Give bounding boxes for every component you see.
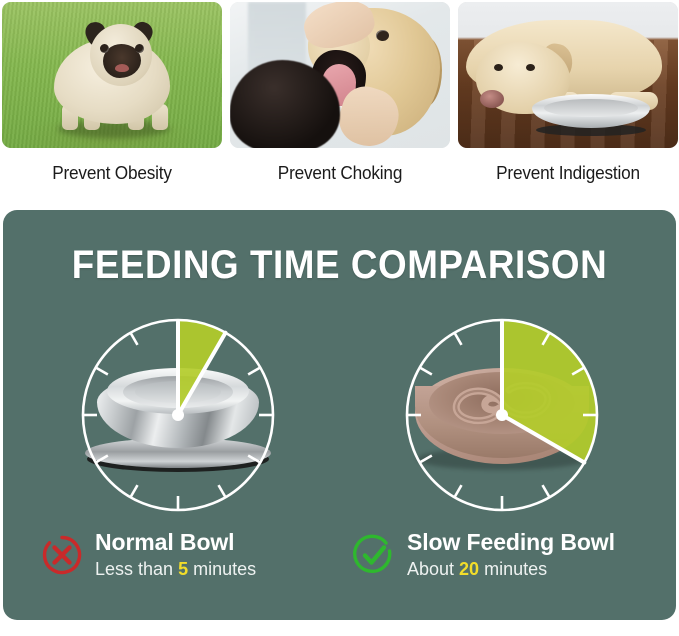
comparison-minutes-value: 20	[459, 559, 479, 579]
comparison-sub-prefix: About	[407, 559, 459, 579]
overweight-pug-on-grass-photo	[2, 2, 222, 148]
dial-center-dot	[496, 409, 508, 421]
comparison-subtitle: About 20 minutes	[407, 557, 615, 581]
feeding-time-comparison-infographic: Prevent Obesity Prevent Choking	[0, 0, 679, 636]
comparison-labels: Normal Bowl Less than 5 minutes Slow Fee…	[3, 528, 676, 604]
benefit-label: Prevent Indigestion	[466, 162, 671, 184]
comparison-sub-suffix: minutes	[479, 559, 547, 579]
benefit-item-prevent-choking: Prevent Choking	[230, 2, 450, 184]
comparison-title: Normal Bowl	[95, 528, 256, 556]
dial-slow-feeding-bowl	[387, 300, 617, 530]
red-x-circle-icon	[41, 534, 83, 576]
comparison-slow-feeding-bowl: Slow Feeding Bowl About 20 minutes	[353, 528, 673, 604]
dial-center-dot	[172, 409, 184, 421]
green-check-circle-icon	[353, 534, 395, 576]
comparison-minutes-value: 5	[178, 559, 188, 579]
benefits-strip: Prevent Obesity Prevent Choking	[0, 0, 679, 200]
clock-dial-5-minutes	[63, 300, 293, 530]
clock-dial-20-minutes	[387, 300, 617, 530]
benefit-label: Prevent Obesity	[10, 162, 215, 184]
comparison-title: Slow Feeding Bowl	[407, 528, 615, 556]
comparison-normal-bowl: Normal Bowl Less than 5 minutes	[41, 528, 341, 604]
feeding-time-comparison-panel: FEEDING TIME COMPARISON	[3, 210, 676, 620]
benefit-item-prevent-obesity: Prevent Obesity	[2, 2, 222, 184]
comparison-subtitle: Less than 5 minutes	[95, 557, 256, 581]
vet-checking-golden-retriever-mouth-photo	[230, 2, 450, 148]
page-title: FEEDING TIME COMPARISON	[30, 243, 649, 288]
dial-row	[3, 300, 676, 530]
labrador-lying-next-to-food-bowl-photo	[458, 2, 678, 148]
comparison-sub-suffix: minutes	[188, 559, 256, 579]
label-text-group: Slow Feeding Bowl About 20 minutes	[407, 528, 615, 581]
label-text-group: Normal Bowl Less than 5 minutes	[95, 528, 256, 581]
benefit-item-prevent-indigestion: Prevent Indigestion	[458, 2, 678, 184]
benefit-label: Prevent Choking	[238, 162, 443, 184]
comparison-sub-prefix: Less than	[95, 559, 178, 579]
dial-normal-bowl	[63, 300, 293, 530]
